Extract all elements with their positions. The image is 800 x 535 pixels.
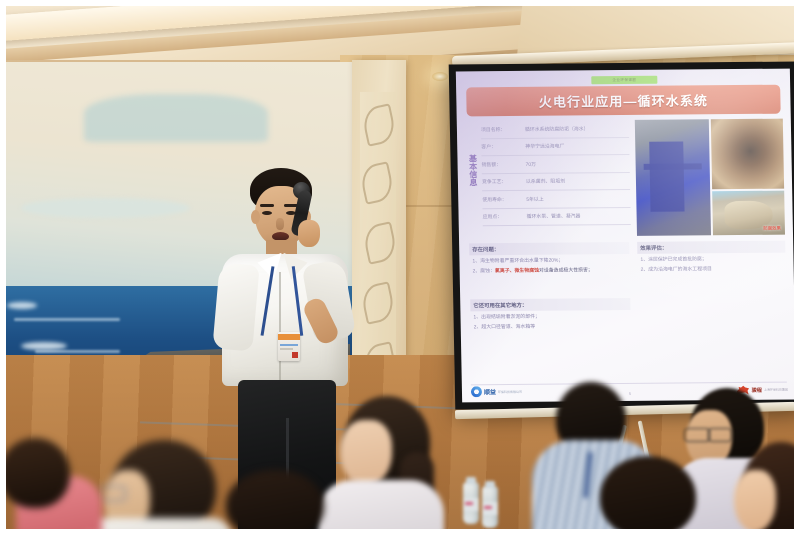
table-key: 应用点： xyxy=(483,213,527,220)
mural-haze xyxy=(21,198,190,218)
bullet-text: 2、腐蚀： xyxy=(473,269,495,274)
projector-screen: 企业环保课题 火电行业应用—循环水系统 基本信息 项目名称： 循环水系统防腐防垢… xyxy=(452,57,800,412)
audience-head xyxy=(600,456,696,535)
logo-right-sub: 上海环保科技集团 xyxy=(764,388,788,392)
section-heading: 它还可用在其它地方： xyxy=(470,298,630,311)
table-key: 使用寿命： xyxy=(482,196,526,203)
photo-corroded-tunnel xyxy=(711,119,784,190)
table-row: 应用点： 循环水泵、管道、凝汽器 xyxy=(482,207,630,226)
presenter-arm-left xyxy=(212,262,259,351)
table-value: 循环水系统防腐防垢（海水） xyxy=(525,125,629,133)
presentation-slide: 企业环保课题 火电行业应用—循环水系统 基本信息 项目名称： 循环水系统防腐防垢… xyxy=(456,69,796,403)
audience-shoulders xyxy=(318,480,444,535)
eyeglasses-icon xyxy=(708,428,732,442)
presenter-shirt-placket xyxy=(279,272,281,384)
water-bottle xyxy=(482,486,498,528)
slide-side-label: 基本信息 xyxy=(467,155,479,188)
table-row: 竞争工艺： 以杀菌剂、阻垢剂 xyxy=(482,172,630,191)
ceiling-spotlight xyxy=(432,72,448,81)
mural-haze xyxy=(84,94,267,142)
section-heading: 存在问题： xyxy=(469,242,629,255)
swirl-logo-icon xyxy=(471,386,482,397)
bullet-item: 1、涂层保护已完成首批防腐； xyxy=(640,255,785,263)
slide-title: 火电行业应用—循环水系统 xyxy=(466,85,781,117)
logo-left-sub: 环保科技有限公司 xyxy=(498,389,522,393)
slide-section-other-uses: 它还可用在其它地方： 1、出现结垢附着淤泥的部件； 2、超大口径管道、海水箱等 xyxy=(470,298,631,330)
slide-green-tab: 企业环保课题 xyxy=(591,76,657,85)
logo-right-name: 骏程 xyxy=(752,386,763,393)
eyeglasses-icon xyxy=(100,486,126,501)
slide-info-table: 项目名称： 循环水系统防腐防垢（海水） 客户： 神华宁远沿海电厂 销售额： 70… xyxy=(481,120,631,226)
audience-head xyxy=(226,470,324,535)
photo-badge-label: 防腐效果 xyxy=(763,226,781,232)
table-value: 以杀菌剂、阻垢剂 xyxy=(526,177,630,185)
logo-left: 顺益 环保科技有限公司 xyxy=(471,386,522,397)
bullet-highlight: 氯离子、微生物腐蚀 xyxy=(495,269,539,274)
bullet-text: 1、海生物附着严重环合出水量下降20%； xyxy=(472,259,563,265)
conference-photo: 企业环保课题 火电行业应用—循环水系统 基本信息 项目名称： 循环水系统防腐防垢… xyxy=(0,0,800,535)
bullet-item: 2、成为沿海电厂的海水工程项目 xyxy=(641,264,786,272)
slide-page-number: 5 xyxy=(629,391,631,396)
slide-photo-group: 防腐效果 xyxy=(635,119,785,236)
table-key: 销售额： xyxy=(482,161,526,168)
name-badge xyxy=(278,332,300,361)
bullet-item: 2、腐蚀：氯离子、微生物腐蚀对设备造成极大性损害； xyxy=(473,266,630,274)
table-row: 使用寿命： 5年以上 xyxy=(482,190,630,209)
slide-info-block: 基本信息 项目名称： 循环水系统防腐防垢（海水） 客户： 神华宁远沿海电厂 销售… xyxy=(467,120,629,121)
table-value: 神华宁远沿海电厂 xyxy=(525,142,629,150)
presenter-ear xyxy=(251,210,260,224)
bullet-item: 1、海生物附着严重环合出水量下降20%； xyxy=(472,256,629,264)
presenter-hand xyxy=(298,220,320,247)
slide-section-evaluation: 效果评估： 1、涂层保护已完成首批防腐； 2、成为沿海电厂的海水工程项目 xyxy=(637,241,786,273)
audience-head xyxy=(0,438,70,508)
screen-frame: 企业环保课题 火电行业应用—循环水系统 基本信息 项目名称： 循环水系统防腐防垢… xyxy=(449,62,800,410)
table-value: 70万 xyxy=(526,160,630,168)
table-value: 循环水泵、管道、凝汽器 xyxy=(527,212,631,220)
table-row: 项目名称： 循环水系统防腐防垢（海水） xyxy=(481,120,629,139)
table-value: 5年以上 xyxy=(526,195,630,203)
table-key: 项目名称： xyxy=(481,126,525,133)
eyeglasses-icon xyxy=(684,428,710,442)
table-row: 销售额： 70万 xyxy=(481,155,629,174)
section-heading: 效果评估： xyxy=(637,241,785,254)
logo-left-name: 顺益 xyxy=(484,387,496,396)
audience-face xyxy=(340,420,392,486)
slide-section-problems: 存在问题： 1、海生物附着严重环合出水量下降20%； 2、腐蚀：氯离子、微生物腐… xyxy=(469,242,630,274)
water-bottle xyxy=(463,482,479,524)
audience-face xyxy=(734,470,776,532)
table-key: 客户： xyxy=(481,143,525,150)
presenter-eyebrow xyxy=(260,204,274,207)
presenter-eye xyxy=(262,211,272,215)
audience-shoulders xyxy=(82,518,232,535)
presenter-nose xyxy=(276,218,284,230)
table-key: 竞争工艺： xyxy=(482,178,526,185)
bullet-item: 1、出现结垢附着淤泥的部件； xyxy=(473,312,630,320)
bullet-text-tail: 对设备造成极大性损害； xyxy=(539,268,593,273)
photo-blue-equipment xyxy=(635,119,711,236)
table-row: 客户： 神华宁远沿海电厂 xyxy=(481,137,629,156)
bullet-item: 2、超大口径管道、海水箱等 xyxy=(474,322,631,330)
